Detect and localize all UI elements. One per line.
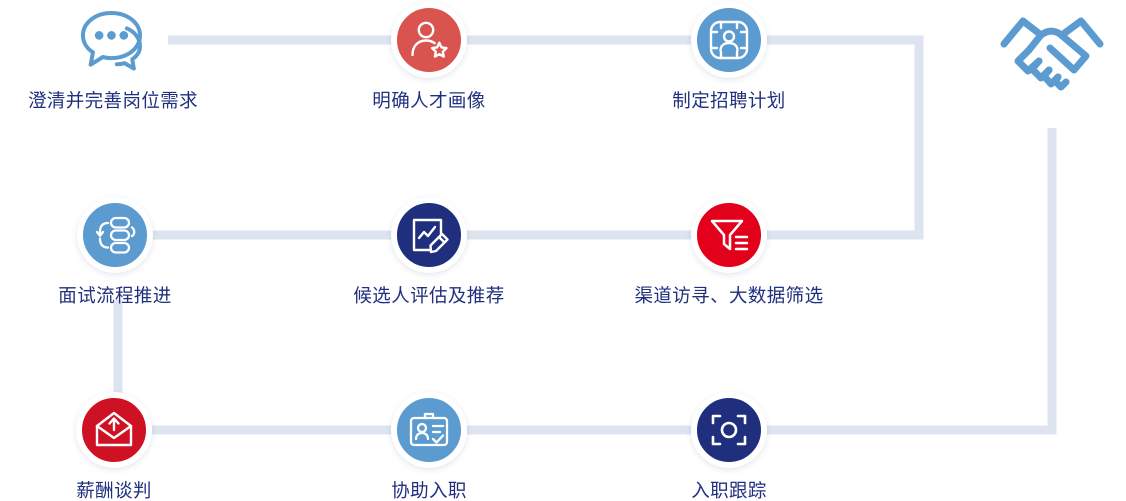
speech-bubbles-icon xyxy=(76,1,150,79)
process-flow-diagram: 澄清并完善岗位需求 明确人才画像 xyxy=(0,0,1126,501)
node-step-6[interactable]: 渠道访寻、大数据筛选 xyxy=(614,198,844,306)
node-label-step-9: 入职跟踪 xyxy=(614,480,844,501)
node-step-7[interactable]: 薪酬谈判 xyxy=(0,393,229,501)
speech-bubbles-icon-badge xyxy=(76,3,150,77)
person-star-icon-badge xyxy=(392,3,466,77)
process-flow-icon-badge xyxy=(78,198,152,272)
person-frame-icon-badge xyxy=(692,3,766,77)
node-step-2[interactable]: 明确人才画像 xyxy=(314,3,544,111)
node-label-step-3: 制定招聘计划 xyxy=(614,90,844,111)
document-pencil-icon-badge xyxy=(392,198,466,272)
node-step-8[interactable]: 协助入职 xyxy=(314,393,544,501)
document-pencil-icon xyxy=(408,214,450,256)
process-flow-icon xyxy=(93,214,137,256)
node-label-step-7: 薪酬谈判 xyxy=(0,480,229,501)
node-label-step-1: 澄清并完善岗位需求 xyxy=(0,90,228,111)
person-frame-icon xyxy=(707,18,751,62)
node-step-3[interactable]: 制定招聘计划 xyxy=(614,3,844,111)
funnel-filter-icon xyxy=(708,215,750,255)
funnel-filter-icon-badge xyxy=(692,198,766,272)
node-label-step-5: 候选人评估及推荐 xyxy=(314,285,544,306)
focus-target-icon xyxy=(708,409,750,451)
handshake-decoration xyxy=(992,8,1112,108)
handshake-icon xyxy=(992,8,1112,103)
node-label-step-4: 面试流程推进 xyxy=(0,285,230,306)
envelope-up-arrow-icon-badge xyxy=(77,393,151,467)
person-star-icon xyxy=(408,19,450,61)
focus-target-icon-badge xyxy=(692,393,766,467)
node-step-1[interactable]: 澄清并完善岗位需求 xyxy=(0,3,228,111)
node-step-4[interactable]: 面试流程推进 xyxy=(0,198,230,306)
envelope-up-arrow-icon xyxy=(93,411,135,449)
node-label-step-8: 协助入职 xyxy=(314,480,544,501)
id-badge-check-icon xyxy=(407,410,451,450)
node-step-9[interactable]: 入职跟踪 xyxy=(614,393,844,501)
node-label-step-6: 渠道访寻、大数据筛选 xyxy=(614,285,844,306)
node-step-5[interactable]: 候选人评估及推荐 xyxy=(314,198,544,306)
node-label-step-2: 明确人才画像 xyxy=(314,90,544,111)
id-badge-check-icon-badge xyxy=(392,393,466,467)
